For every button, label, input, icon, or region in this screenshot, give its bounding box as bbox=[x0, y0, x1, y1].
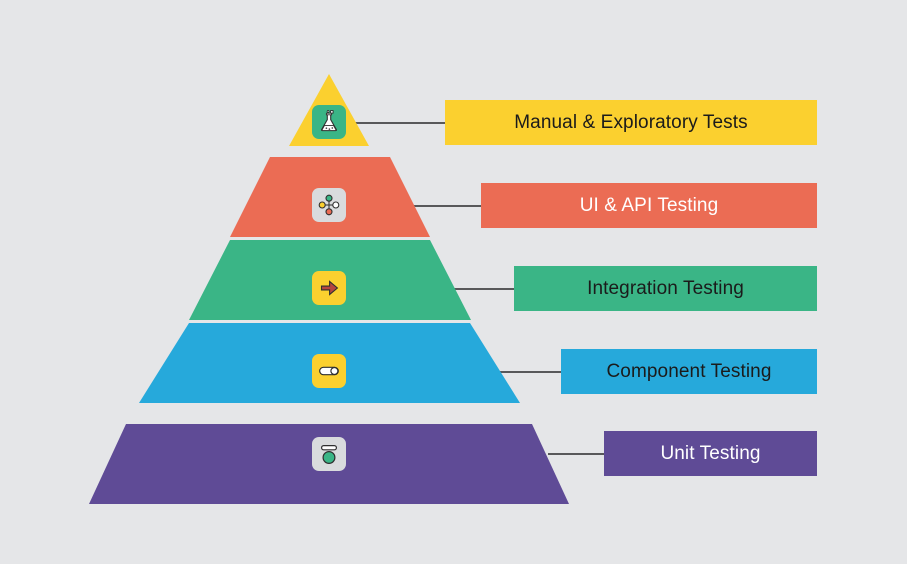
arrow-right-icon bbox=[312, 271, 346, 305]
label-text-integration: Integration Testing bbox=[587, 278, 744, 300]
testing-pyramid-diagram: Manual & Exploratory Tests UI & API Test… bbox=[0, 0, 907, 564]
flask-icon bbox=[312, 105, 346, 139]
label-bar-ui-api[interactable]: UI & API Testing bbox=[481, 183, 817, 228]
label-bar-component[interactable]: Component Testing bbox=[561, 349, 817, 394]
label-text-component: Component Testing bbox=[606, 361, 771, 383]
label-bar-manual-exploratory[interactable]: Manual & Exploratory Tests bbox=[445, 100, 817, 145]
unit-button-icon bbox=[312, 437, 346, 471]
toggle-switch-icon bbox=[312, 354, 346, 388]
label-text-unit: Unit Testing bbox=[660, 443, 760, 465]
label-text-ui-api: UI & API Testing bbox=[580, 195, 719, 217]
label-bar-unit[interactable]: Unit Testing bbox=[604, 431, 817, 476]
test-nodes-icon bbox=[312, 188, 346, 222]
label-bar-integration[interactable]: Integration Testing bbox=[514, 266, 817, 311]
label-text-manual-exploratory: Manual & Exploratory Tests bbox=[514, 112, 748, 134]
